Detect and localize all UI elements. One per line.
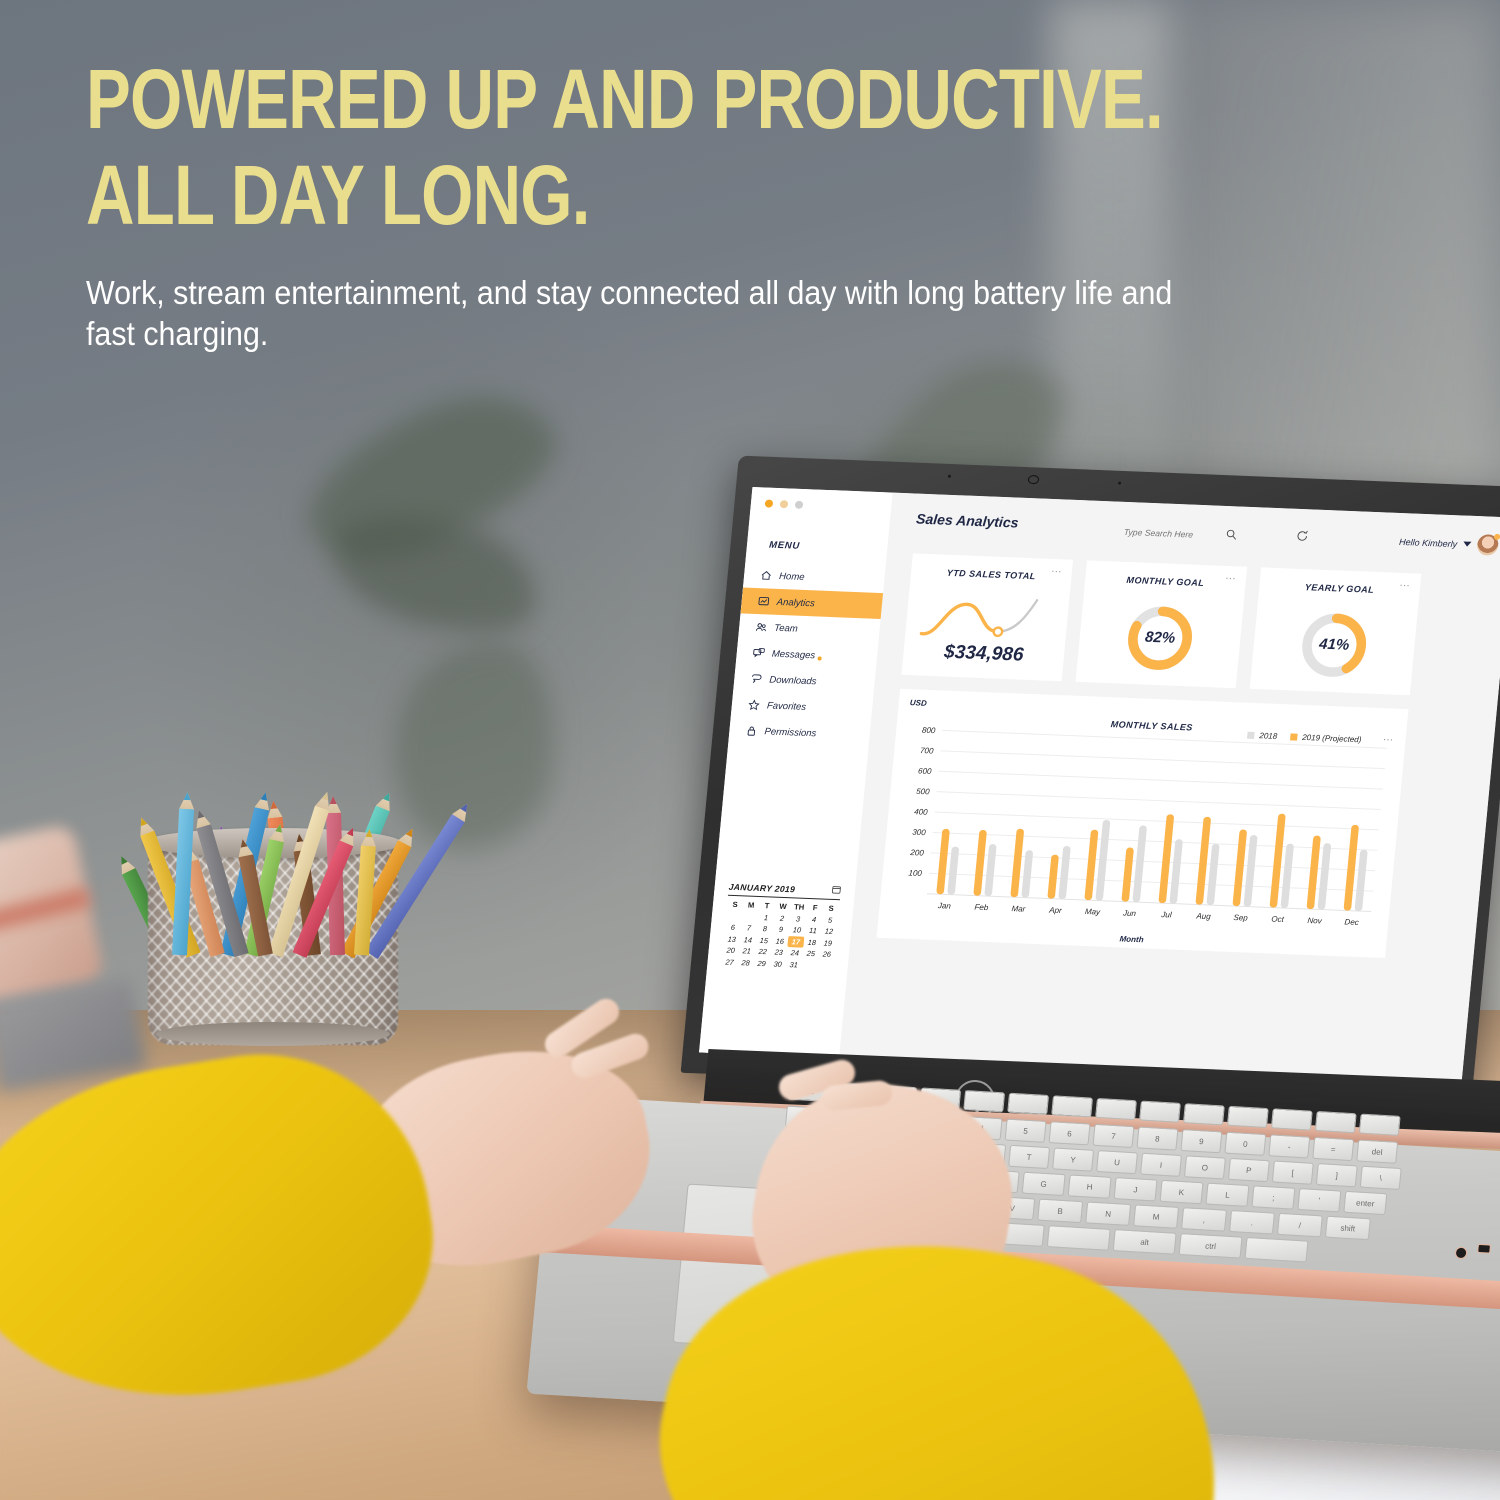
calendar-day[interactable]: 5 xyxy=(822,914,839,926)
keyboard-key[interactable] xyxy=(963,1090,1005,1112)
webcam-icon xyxy=(1028,475,1040,484)
calendar-day[interactable]: 25 xyxy=(802,948,819,960)
card-monthly-sales-chart[interactable]: USD MONTHLY SALES … 20182019 (Projected)… xyxy=(877,689,1409,958)
calendar-day[interactable]: 12 xyxy=(820,925,837,937)
search-input[interactable] xyxy=(1123,527,1216,541)
search-box[interactable] xyxy=(1123,523,1238,545)
calendar-day[interactable]: 7 xyxy=(740,922,757,934)
refresh-icon[interactable] xyxy=(1295,529,1309,547)
calendar-day[interactable]: 21 xyxy=(738,945,755,957)
calendar-day[interactable]: 31 xyxy=(785,958,802,970)
pencil-cup xyxy=(120,760,420,1050)
cup-base xyxy=(156,1022,390,1046)
card-menu-icon[interactable]: … xyxy=(1382,734,1395,740)
calendar-day[interactable]: 24 xyxy=(786,947,803,959)
card-title: YEARLY GOAL xyxy=(1259,580,1420,596)
keyboard-key[interactable] xyxy=(1315,1111,1357,1133)
keyboard-key[interactable]: M xyxy=(1133,1204,1179,1229)
keyboard-key[interactable] xyxy=(1047,1225,1111,1251)
calendar-day[interactable]: 18 xyxy=(803,936,820,948)
calendar-day[interactable]: 26 xyxy=(818,948,835,960)
calendar-day[interactable]: 19 xyxy=(819,937,836,949)
sidebar-item-label: Home xyxy=(779,570,805,582)
keyboard-key[interactable]: 9 xyxy=(1180,1129,1222,1153)
svg-text:200: 200 xyxy=(909,848,925,858)
user-menu[interactable]: Hello Kimberly xyxy=(1398,531,1499,556)
keyboard-key[interactable] xyxy=(1095,1098,1137,1120)
keyboard-key[interactable] xyxy=(1227,1106,1269,1128)
svg-text:Mar: Mar xyxy=(1011,904,1026,914)
keyboard-key[interactable]: 6 xyxy=(1049,1121,1091,1145)
card-yearly-goal[interactable]: … YEARLY GOAL 41% xyxy=(1250,567,1422,695)
svg-text:600: 600 xyxy=(918,766,933,776)
calendar-day[interactable]: 13 xyxy=(723,933,740,945)
svg-text:Feb: Feb xyxy=(974,903,989,913)
keyboard-key[interactable]: L xyxy=(1205,1183,1249,1207)
keyboard-key[interactable]: O xyxy=(1184,1155,1226,1179)
calendar-title: JANUARY 2019 xyxy=(728,881,795,894)
keyboard-key[interactable]: H xyxy=(1068,1174,1112,1198)
svg-text:300: 300 xyxy=(912,828,927,838)
keyboard-key[interactable]: , xyxy=(1181,1207,1227,1232)
keyboard-key[interactable] xyxy=(1051,1095,1093,1117)
calendar-day[interactable]: 27 xyxy=(721,956,738,968)
chevron-down-icon[interactable] xyxy=(1463,541,1471,546)
keyboard-key[interactable]: K xyxy=(1159,1180,1203,1204)
keyboard-key[interactable]: 7 xyxy=(1092,1124,1134,1148)
keyboard-key[interactable]: . xyxy=(1229,1210,1275,1235)
calendar-blank xyxy=(741,911,758,923)
keyboard-key[interactable]: Y xyxy=(1052,1147,1094,1171)
svg-text:Aug: Aug xyxy=(1195,911,1212,921)
calendar-dow: F xyxy=(807,902,824,914)
sidebar-item-label: Permissions xyxy=(764,726,817,739)
keyboard-key[interactable]: 8 xyxy=(1136,1126,1178,1150)
svg-text:Jul: Jul xyxy=(1160,910,1172,919)
calendar-dow: S xyxy=(823,903,840,915)
download-icon xyxy=(750,673,763,685)
calendar-day[interactable]: 2 xyxy=(773,912,790,924)
keyboard-key[interactable]: N xyxy=(1085,1201,1131,1226)
keyboard-key[interactable] xyxy=(1183,1103,1225,1125)
yearly-goal-value: 41% xyxy=(1253,633,1415,656)
svg-text:700: 700 xyxy=(920,746,935,756)
calendar-day[interactable]: 1 xyxy=(757,911,774,923)
keyboard-key[interactable]: \ xyxy=(1360,1166,1402,1190)
sidebar-item-permissions[interactable]: Permissions xyxy=(728,717,871,749)
sidebar-item-label: Messages xyxy=(771,648,815,661)
calendar-day[interactable]: 4 xyxy=(806,913,823,925)
keyboard-key[interactable]: alt xyxy=(1113,1229,1177,1255)
keyboard-key[interactable] xyxy=(1271,1108,1313,1130)
analytics-icon xyxy=(757,595,770,607)
promo-text-block: POWERED UP AND PRODUCTIVE. ALL DAY LONG.… xyxy=(86,58,1386,354)
keyboard-key[interactable]: [ xyxy=(1272,1160,1314,1184)
calendar-dow: M xyxy=(743,899,760,911)
calendar-day[interactable]: 10 xyxy=(788,924,805,936)
calendar-day[interactable]: 9 xyxy=(772,924,789,936)
bar-chart-plot: 800700600500400300200100JanFebMarAprMayJ… xyxy=(877,725,1405,952)
svg-text:Apr: Apr xyxy=(1048,906,1063,916)
headline-line-2: ALL DAY LONG. xyxy=(86,154,1126,236)
calendar-day[interactable]: 15 xyxy=(755,934,772,946)
avatar[interactable] xyxy=(1476,534,1499,556)
calendar-blank xyxy=(725,910,742,922)
calendar-icon xyxy=(831,885,841,896)
calendar-day[interactable]: 11 xyxy=(804,925,821,937)
sidebar-nav[interactable]: HomeAnalyticsTeamMessagesDownloadsFavori… xyxy=(728,562,885,749)
keyboard-key[interactable]: / xyxy=(1277,1213,1323,1238)
calendar-day[interactable]: 20 xyxy=(722,944,739,956)
calendar-day[interactable]: 28 xyxy=(737,957,754,969)
keyboard-key[interactable]: enter xyxy=(1343,1191,1387,1215)
svg-text:Oct: Oct xyxy=(1271,915,1285,924)
keyboard-key[interactable] xyxy=(1139,1101,1181,1123)
keyboard-key[interactable]: U xyxy=(1096,1150,1138,1174)
calendar-day[interactable]: 16 xyxy=(771,935,788,947)
svg-text:Jan: Jan xyxy=(937,901,952,911)
keyboard-key[interactable] xyxy=(1007,1093,1049,1115)
hp-laptop: MENU HomeAnalyticsTeamMessagesDownloadsF… xyxy=(600,455,1500,1405)
svg-text:Jun: Jun xyxy=(1122,909,1137,919)
calendar-grid[interactable]: SMTWTHFS 1234567891011121314151617181920… xyxy=(721,899,840,972)
monthly-goal-value: 82% xyxy=(1079,626,1241,649)
chart-ylabel: USD xyxy=(909,698,927,708)
keyboard-key[interactable]: P xyxy=(1228,1158,1270,1182)
keyboard-key[interactable] xyxy=(1244,1237,1308,1263)
card-title: MONTHLY GOAL xyxy=(1085,573,1246,589)
promo-subhead: Work, stream entertainment, and stay con… xyxy=(86,272,1199,354)
keyboard-key[interactable]: T xyxy=(1008,1145,1050,1169)
window-controls[interactable] xyxy=(765,499,804,508)
page-title: Sales Analytics xyxy=(915,511,1019,531)
search-icon[interactable] xyxy=(1225,527,1238,545)
sparkline-chart xyxy=(916,590,1061,649)
keyboard-key[interactable]: B xyxy=(1037,1199,1083,1224)
menu-heading: MENU xyxy=(769,540,801,552)
keyboard-key[interactable]: = xyxy=(1312,1137,1354,1161)
calendar-day[interactable]: 30 xyxy=(769,958,786,970)
keyboard-key[interactable]: ' xyxy=(1297,1188,1341,1212)
message-icon xyxy=(752,647,765,659)
headline-line-1: POWERED UP AND PRODUCTIVE. xyxy=(86,58,1126,140)
calendar-day[interactable]: 8 xyxy=(756,923,773,935)
keyboard-key[interactable]: - xyxy=(1268,1134,1310,1158)
calendar-day[interactable]: 3 xyxy=(789,913,806,925)
team-icon xyxy=(755,621,768,633)
notification-badge xyxy=(818,656,822,660)
svg-text:Nov: Nov xyxy=(1307,916,1323,926)
lock-icon xyxy=(745,725,758,737)
calendar-dow: S xyxy=(727,899,744,911)
calendar-day[interactable]: 6 xyxy=(724,922,741,934)
keyboard-key[interactable]: G xyxy=(1022,1172,1066,1196)
star-icon xyxy=(747,699,760,711)
keyboard-key[interactable]: ; xyxy=(1251,1185,1295,1209)
card-ytd-sales[interactable]: … YTD SALES TOTAL $334,986 xyxy=(901,553,1073,681)
card-title: YTD SALES TOTAL xyxy=(911,566,1072,582)
calendar-day[interactable]: 14 xyxy=(739,934,756,946)
card-monthly-goal[interactable]: … MONTHLY GOAL 82% xyxy=(1076,560,1248,688)
sidebar-item-label: Downloads xyxy=(769,674,817,687)
sidebar-item-label: Team xyxy=(774,622,798,634)
window-dot[interactable] xyxy=(795,501,804,509)
svg-text:Sep: Sep xyxy=(1233,913,1249,923)
calendar-dow: T xyxy=(759,900,776,912)
sidebar-item-label: Analytics xyxy=(776,596,815,608)
keyboard-key[interactable]: ctrl xyxy=(1179,1233,1243,1259)
status-badge xyxy=(1494,534,1500,540)
svg-text:100: 100 xyxy=(908,868,923,878)
svg-text:800: 800 xyxy=(922,726,937,736)
calendar-widget[interactable]: JANUARY 2019 SMTWTHFS 123456789101112131… xyxy=(721,881,841,972)
keyboard-key[interactable]: 0 xyxy=(1224,1132,1266,1156)
keyboard-key[interactable]: J xyxy=(1114,1177,1158,1201)
calendar-dow: TH xyxy=(791,901,808,913)
svg-text:400: 400 xyxy=(914,807,929,817)
audio-jack-port xyxy=(1455,1247,1468,1260)
usb-c-port xyxy=(1477,1244,1491,1254)
calendar-header: JANUARY 2019 xyxy=(728,881,841,900)
keyboard-key[interactable]: 5 xyxy=(1005,1119,1047,1143)
user-greeting: Hello Kimberly xyxy=(1399,536,1458,548)
calendar-day[interactable]: 22 xyxy=(754,946,771,958)
laptop-screen: MENU HomeAnalyticsTeamMessagesDownloadsF… xyxy=(699,487,1500,1083)
window-dot[interactable] xyxy=(780,500,789,508)
analytics-dashboard: MENU HomeAnalyticsTeamMessagesDownloadsF… xyxy=(699,487,1500,1083)
calendar-dow: W xyxy=(775,901,792,913)
calendar-day[interactable]: 29 xyxy=(753,957,770,969)
calendar-day[interactable]: 23 xyxy=(770,946,787,958)
keyboard-key[interactable]: shift xyxy=(1325,1216,1371,1241)
svg-text:500: 500 xyxy=(916,787,931,797)
keyboard-key[interactable]: ] xyxy=(1316,1163,1358,1187)
window-dot[interactable] xyxy=(765,499,774,507)
keyboard-key[interactable]: del xyxy=(1356,1139,1398,1163)
svg-text:Dec: Dec xyxy=(1344,917,1359,927)
keyboard-key[interactable] xyxy=(1359,1114,1401,1136)
home-icon xyxy=(760,569,773,581)
svg-text:May: May xyxy=(1085,907,1102,917)
keyboard-key[interactable]: I xyxy=(1140,1153,1182,1177)
calendar-day[interactable]: 17 xyxy=(787,936,804,948)
sidebar-item-label: Favorites xyxy=(766,700,806,713)
